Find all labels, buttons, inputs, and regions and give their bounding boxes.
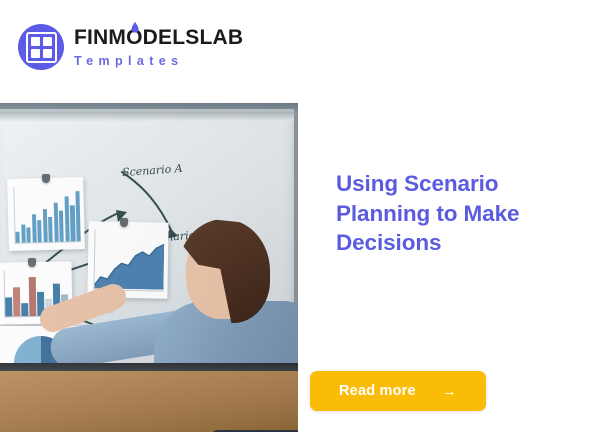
- article-photo: Scenario A Scenario B Scenario C: [0, 103, 298, 432]
- grid-square-icon: [26, 32, 57, 63]
- brand-text: FINMODELSLAB Templates: [74, 27, 243, 68]
- brand-name: FINMODELSLAB: [74, 27, 243, 48]
- magnet-pin: [42, 174, 50, 183]
- brand-name-label: FINMODELSLAB: [74, 26, 243, 49]
- desk-surface: [0, 371, 298, 432]
- bar-chart-sheet-1: [7, 177, 85, 251]
- read-more-button[interactable]: Read more →: [310, 371, 486, 411]
- page-title: Using Scenario Planning to Make Decision…: [336, 169, 564, 258]
- brand-subtitle: Templates: [74, 55, 243, 68]
- promo-card: FINMODELSLAB Templates: [0, 0, 600, 432]
- magnet-pin: [28, 258, 36, 267]
- brand-logo[interactable]: FINMODELSLAB Templates: [18, 24, 243, 70]
- arrow-right-icon: →: [442, 384, 457, 399]
- brand-mark: [18, 24, 64, 70]
- magnet-pin: [120, 218, 128, 227]
- bar-series: [14, 187, 80, 243]
- read-more-label: Read more: [339, 383, 416, 399]
